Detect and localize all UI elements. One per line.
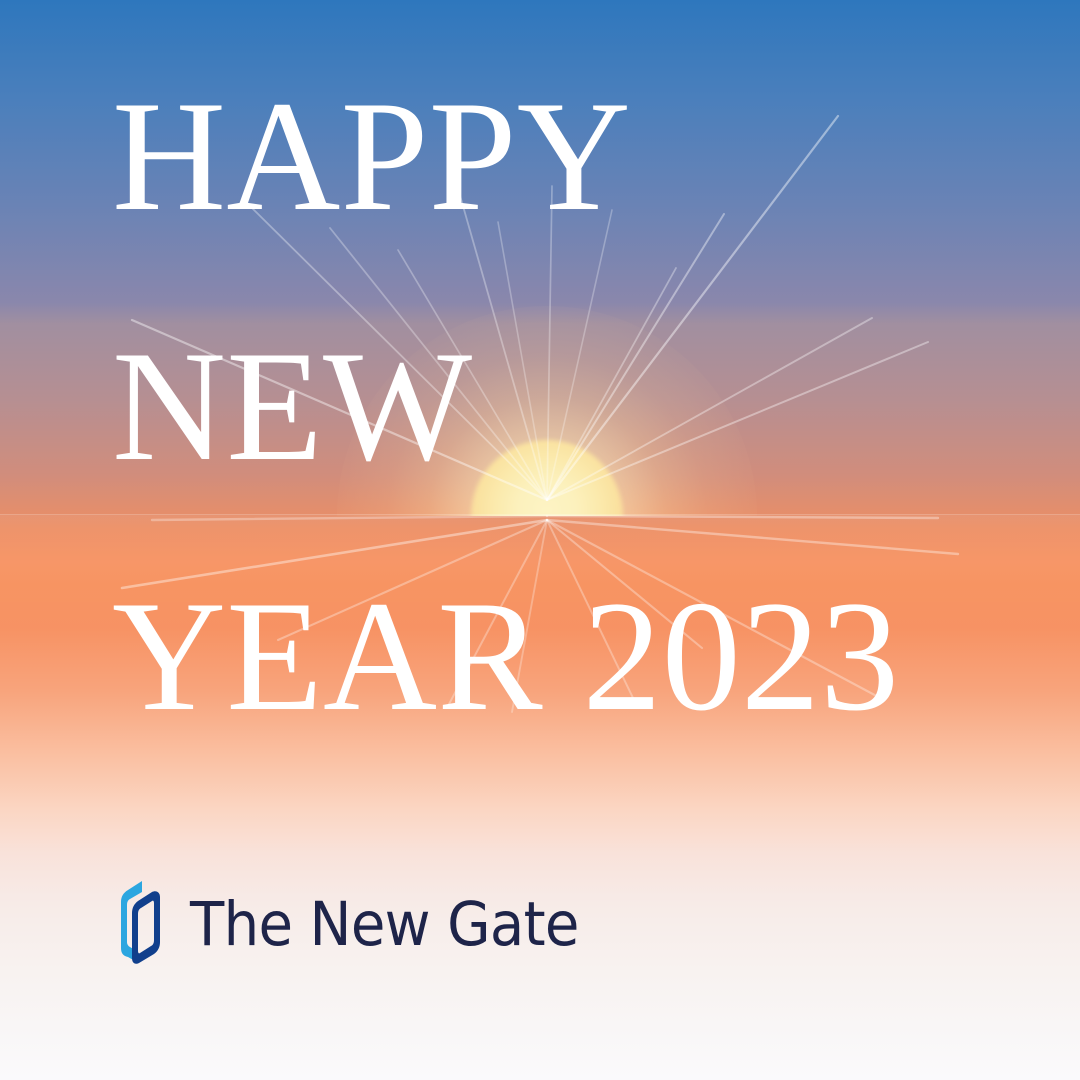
brand-wordmark: The New Gate	[190, 894, 579, 955]
headline-line-new: NEW	[112, 328, 472, 486]
horizon-line	[0, 514, 1080, 515]
headline-line-happy: HAPPY	[112, 78, 631, 236]
brand-lockup: The New Gate	[110, 878, 613, 970]
brand-logo-icon	[110, 878, 170, 970]
new-year-greeting-poster: HAPPY NEW YEAR 2023 The New Gate	[0, 0, 1080, 1080]
headline-line-year-2023: YEAR 2023	[112, 578, 899, 736]
